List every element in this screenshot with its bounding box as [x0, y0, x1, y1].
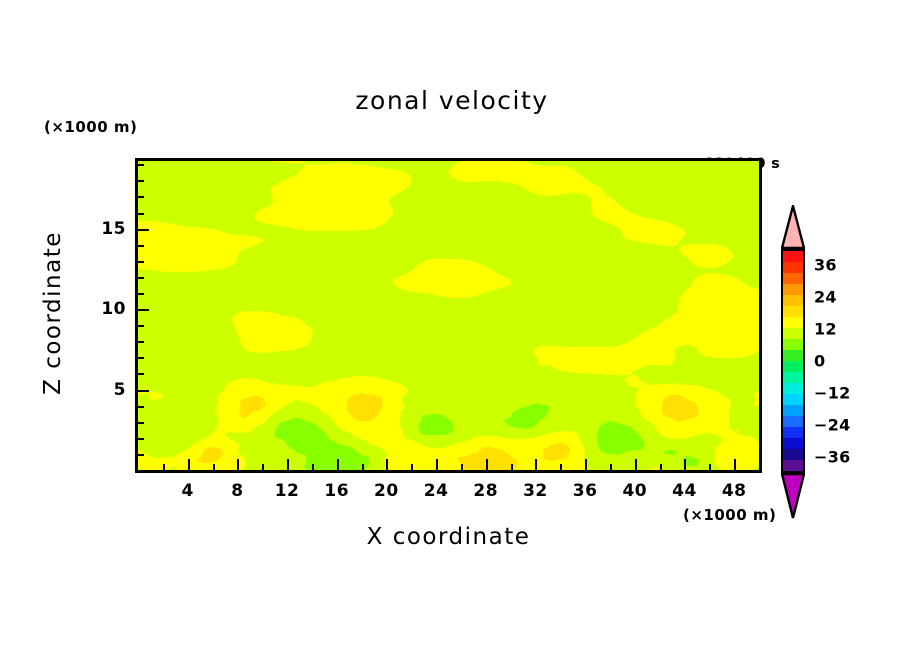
x-tick-4: [188, 459, 190, 470]
x-tick-46: [709, 464, 711, 470]
x-tick-16: [337, 459, 339, 470]
contour-field: [138, 161, 759, 470]
colorbar-under-cap: [781, 473, 805, 519]
x-tick-36: [585, 459, 587, 470]
colorbar-band-13: [783, 394, 803, 405]
y-tick-13: [138, 261, 144, 263]
x-tick-26: [461, 464, 463, 470]
x-tick-label-8: 8: [231, 481, 243, 501]
colorbar-band-3: [783, 284, 803, 295]
chart-root: zonal velocity (×1000 m) (×1000 m) t=680…: [0, 0, 904, 654]
y-tick-label-5: 5: [114, 380, 126, 400]
colorbar-band-14: [783, 405, 803, 416]
y-tick-4: [138, 406, 144, 408]
y-tick-label-15: 15: [101, 219, 126, 239]
colorbar-band-1: [783, 262, 803, 273]
x-tick-label-48: 48: [722, 481, 747, 501]
x-tick-14: [312, 464, 314, 470]
colorbar-band-4: [783, 295, 803, 306]
x-tick-label-40: 40: [622, 481, 647, 501]
y-tick-3: [138, 422, 144, 424]
y-tick-18: [138, 180, 144, 182]
x-tick-label-44: 44: [672, 481, 697, 501]
x-tick-32: [535, 459, 537, 470]
y-tick-12: [138, 277, 144, 279]
x-tick-12: [287, 459, 289, 470]
x-axis-title: X coordinate: [135, 524, 762, 550]
x-tick-38: [610, 464, 612, 470]
x-tick-label-4: 4: [182, 481, 194, 501]
colorbar-band-15: [783, 416, 803, 427]
colorbar-band-9: [783, 350, 803, 361]
colorbar-label-6: −36: [814, 448, 851, 467]
x-tick-label-36: 36: [573, 481, 598, 501]
y-tick-5: [138, 390, 149, 392]
x-tick-44: [684, 459, 686, 470]
x-tick-40: [635, 459, 637, 470]
colorbar-band-0: [783, 251, 803, 262]
y-tick-2: [138, 438, 144, 440]
x-tick-48: [734, 459, 736, 470]
x-tick-label-12: 12: [275, 481, 300, 501]
colorbar-band-7: [783, 328, 803, 339]
colorbar-band-19: [783, 460, 803, 471]
x-axis-unit-label: (×1000 m): [683, 506, 776, 524]
colorbar-label-4: −12: [814, 384, 851, 403]
y-tick-7: [138, 357, 144, 359]
x-tick-42: [660, 464, 662, 470]
colorbar-band-18: [783, 449, 803, 460]
x-tick-label-20: 20: [374, 481, 399, 501]
colorbar-label-3: 0: [814, 352, 825, 371]
plot-area: [135, 158, 762, 473]
x-tick-8: [237, 459, 239, 470]
x-tick-6: [213, 464, 215, 470]
y-tick-17: [138, 196, 144, 198]
colorbar-band-12: [783, 383, 803, 394]
x-tick-24: [436, 459, 438, 470]
x-tick-30: [511, 464, 513, 470]
colorbar-band-10: [783, 361, 803, 372]
colorbar-band-11: [783, 372, 803, 383]
y-tick-14: [138, 245, 144, 247]
colorbar-bands: [781, 249, 805, 473]
y-tick-1: [138, 454, 144, 456]
colorbar-band-17: [783, 438, 803, 449]
y-tick-9: [138, 325, 144, 327]
colorbar-band-5: [783, 306, 803, 317]
page-title: zonal velocity: [0, 86, 904, 115]
y-tick-label-10: 10: [101, 299, 126, 319]
colorbar-label-1: 24: [814, 288, 837, 307]
colorbar-band-8: [783, 339, 803, 350]
y-tick-10: [138, 309, 149, 311]
x-tick-label-16: 16: [324, 481, 349, 501]
x-tick-28: [486, 459, 488, 470]
x-tick-2: [163, 464, 165, 470]
x-tick-18: [362, 464, 364, 470]
x-tick-22: [411, 464, 413, 470]
y-tick-8: [138, 341, 144, 343]
colorbar-band-2: [783, 273, 803, 284]
y-axis-tick-labels: 51015: [88, 0, 126, 654]
colorbar-label-2: 12: [814, 320, 837, 339]
colorbar-label-5: −24: [814, 416, 851, 435]
x-tick-34: [560, 464, 562, 470]
x-tick-label-24: 24: [424, 481, 449, 501]
colorbar-band-6: [783, 317, 803, 328]
y-tick-16: [138, 213, 144, 215]
x-tick-20: [386, 459, 388, 470]
y-tick-11: [138, 293, 144, 295]
x-tick-10: [262, 464, 264, 470]
y-tick-19: [138, 164, 144, 166]
y-tick-15: [138, 229, 149, 231]
x-tick-label-28: 28: [473, 481, 498, 501]
x-tick-label-32: 32: [523, 481, 548, 501]
y-axis-title: Z coordinate: [40, 198, 66, 428]
y-tick-6: [138, 373, 144, 375]
colorbar-over-cap: [781, 205, 805, 249]
colorbar-band-16: [783, 427, 803, 438]
colorbar-label-0: 36: [814, 256, 837, 275]
